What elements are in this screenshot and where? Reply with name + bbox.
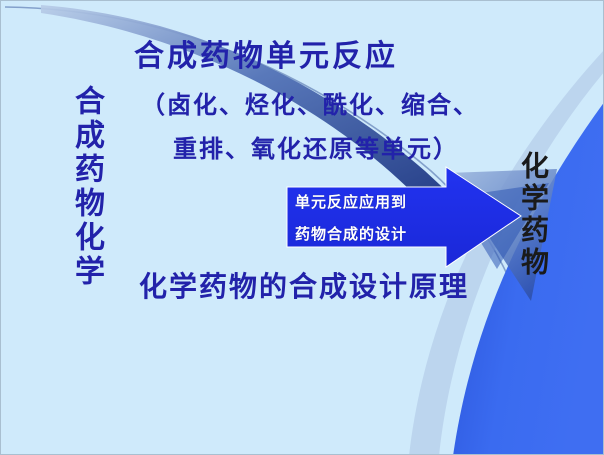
vertical-label-left: 合成药物化学 bbox=[61, 85, 103, 289]
page-title: 合成药物单元反应 bbox=[134, 41, 398, 73]
subtitle-line-1: （卤化、烃化、酰化、缩合、 bbox=[141, 92, 479, 117]
arrow-label-line-2: 药物合成的设计 bbox=[295, 223, 407, 244]
vertical-label-right: 化学药物 bbox=[509, 151, 549, 279]
arrow-label-line-1: 单元反应应用到 bbox=[295, 191, 407, 212]
subtitle-line-2: 重排、氧化还原等单元） bbox=[173, 136, 459, 161]
bottom-heading: 化学药物的合成设计原理 bbox=[139, 272, 469, 301]
presentation-slide: 合成药物单元反应 （卤化、烃化、酰化、缩合、 重排、氧化还原等单元） 合成药物化… bbox=[0, 0, 604, 455]
